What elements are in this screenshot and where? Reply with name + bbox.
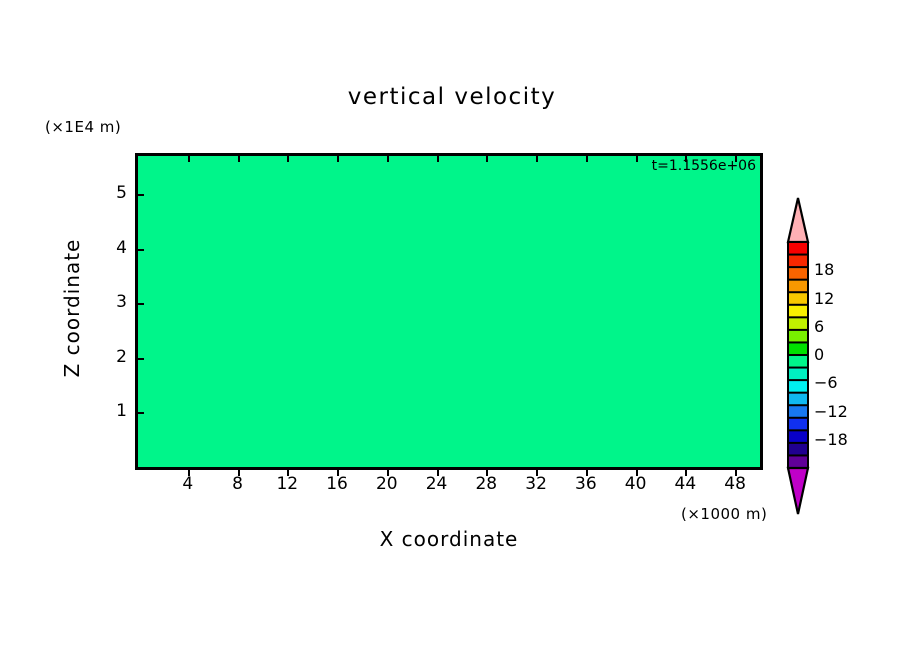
- colorbar-tick-label: −6: [814, 373, 838, 392]
- y-tick-mark: [135, 358, 144, 360]
- y-tick-label: 1: [95, 401, 127, 421]
- x-tick-mark-top: [536, 153, 538, 162]
- x-tick-mark-top: [437, 153, 439, 162]
- page-title: vertical velocity: [0, 84, 904, 110]
- y-tick-label: 4: [95, 238, 127, 258]
- x-tick-label: 40: [616, 474, 656, 494]
- colorbar-tick-label: −12: [814, 402, 848, 421]
- plot-area[interactable]: t=1.1556e+06: [135, 153, 763, 470]
- colorbar[interactable]: [781, 196, 815, 516]
- x-tick-label: 32: [516, 474, 556, 494]
- y-axis-unit-label: (×1E4 m): [45, 118, 121, 136]
- x-tick-mark-top: [387, 153, 389, 162]
- colorbar-swatches: [781, 196, 815, 516]
- colorbar-tick-label: 6: [814, 317, 824, 336]
- timestamp-annotation: t=1.1556e+06: [652, 158, 756, 174]
- x-tick-mark-top: [486, 153, 488, 162]
- x-tick-label: 8: [218, 474, 258, 494]
- x-tick-mark-top: [337, 153, 339, 162]
- x-tick-label: 36: [566, 474, 606, 494]
- x-tick-label: 16: [317, 474, 357, 494]
- y-tick-label: 5: [95, 183, 127, 203]
- colorbar-tick-label: 18: [814, 260, 834, 279]
- y-tick-mark: [135, 249, 144, 251]
- x-tick-label: 4: [168, 474, 208, 494]
- x-tick-mark-top: [287, 153, 289, 162]
- y-tick-mark: [135, 194, 144, 196]
- y-tick-mark: [135, 303, 144, 305]
- x-tick-label: 20: [367, 474, 407, 494]
- y-tick-label: 2: [95, 347, 127, 367]
- velocity-field-heatmap: [138, 156, 760, 467]
- colorbar-tick-label: 0: [814, 345, 824, 364]
- x-axis-unit-label: (×1000 m): [681, 505, 767, 523]
- y-tick-label: 3: [95, 292, 127, 312]
- x-tick-label: 24: [417, 474, 457, 494]
- colorbar-tick-label: 12: [814, 289, 834, 308]
- x-tick-mark-top: [188, 153, 190, 162]
- x-tick-mark-top: [586, 153, 588, 162]
- x-tick-label: 44: [665, 474, 705, 494]
- x-tick-label: 28: [466, 474, 506, 494]
- colorbar-tick-label: −18: [814, 430, 848, 449]
- y-axis-title: Z coordinate: [60, 218, 84, 398]
- x-tick-mark-top: [238, 153, 240, 162]
- x-tick-label: 48: [715, 474, 755, 494]
- x-tick-mark-top: [636, 153, 638, 162]
- y-tick-mark: [135, 412, 144, 414]
- x-axis-title: X coordinate: [135, 527, 763, 551]
- x-tick-label: 12: [267, 474, 307, 494]
